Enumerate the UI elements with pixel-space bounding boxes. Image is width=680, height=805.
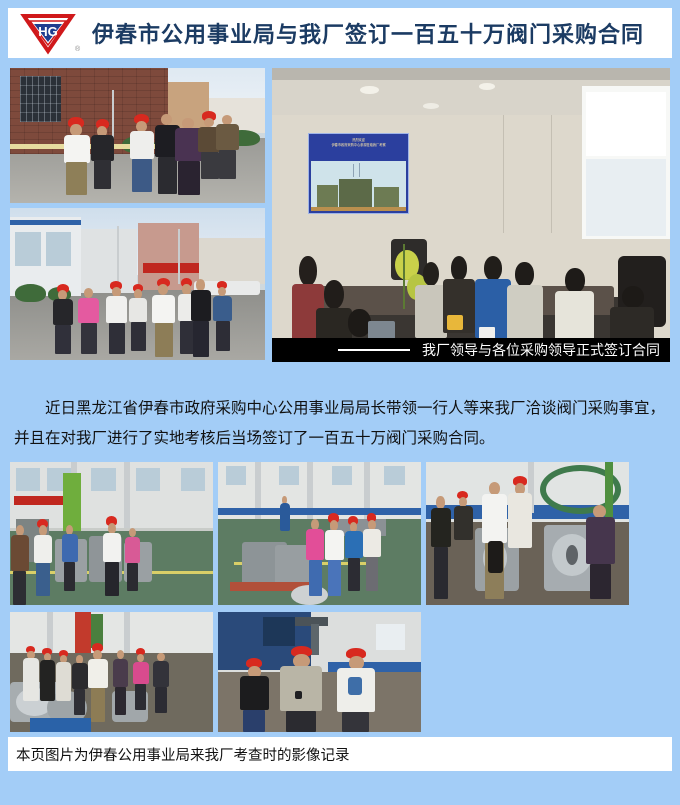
photo-workshop-tour-5 bbox=[218, 612, 421, 732]
photo-visitors-walking-factory-yard bbox=[10, 208, 265, 360]
photo-workshop-tour-2 bbox=[218, 462, 421, 605]
svg-text:HG: HG bbox=[38, 24, 58, 39]
page-footer: 本页图片为伊春公用事业局来我厂考查时的影像记录 bbox=[8, 737, 672, 771]
photo-visitors-walking-brick-building bbox=[10, 68, 265, 203]
hg-company-logo: HG ® bbox=[20, 11, 82, 55]
page-title: 伊春市公用事业局与我厂签订一百五十万阀门采购合同 bbox=[82, 17, 672, 49]
projector-line-2: 伊春市政府采购中心参观莅临我厂考察 bbox=[331, 143, 385, 147]
footer-text: 本页图片为伊春公用事业局来我厂考查时的影像记录 bbox=[8, 744, 350, 765]
caption-rule bbox=[338, 349, 410, 351]
page-header: HG ® 伊春市公用事业局与我厂签订一百五十万阀门采购合同 bbox=[8, 8, 672, 58]
hg-logo-icon: HG ® bbox=[20, 11, 82, 55]
photo-workshop-tour-4 bbox=[10, 612, 213, 732]
photo-meeting-room-presentation: 热烈欢迎 伊春市政府采购中心参观莅临我厂考察 bbox=[272, 68, 670, 362]
photo-caption-bar: 我厂领导与各位采购领导正式签订合同 bbox=[272, 338, 670, 362]
svg-text:®: ® bbox=[75, 45, 81, 53]
photo-workshop-tour-1 bbox=[10, 462, 213, 605]
projector-line-1: 热烈欢迎 bbox=[352, 138, 365, 142]
article-paragraph: 近日黑龙江省伊春市政府采购中心公用事业局局长带领一行人等来我厂洽谈阀门采购事宜，… bbox=[14, 394, 666, 454]
photo-caption-text: 我厂领导与各位采购领导正式签订合同 bbox=[422, 340, 670, 360]
photo-workshop-tour-3 bbox=[426, 462, 629, 605]
